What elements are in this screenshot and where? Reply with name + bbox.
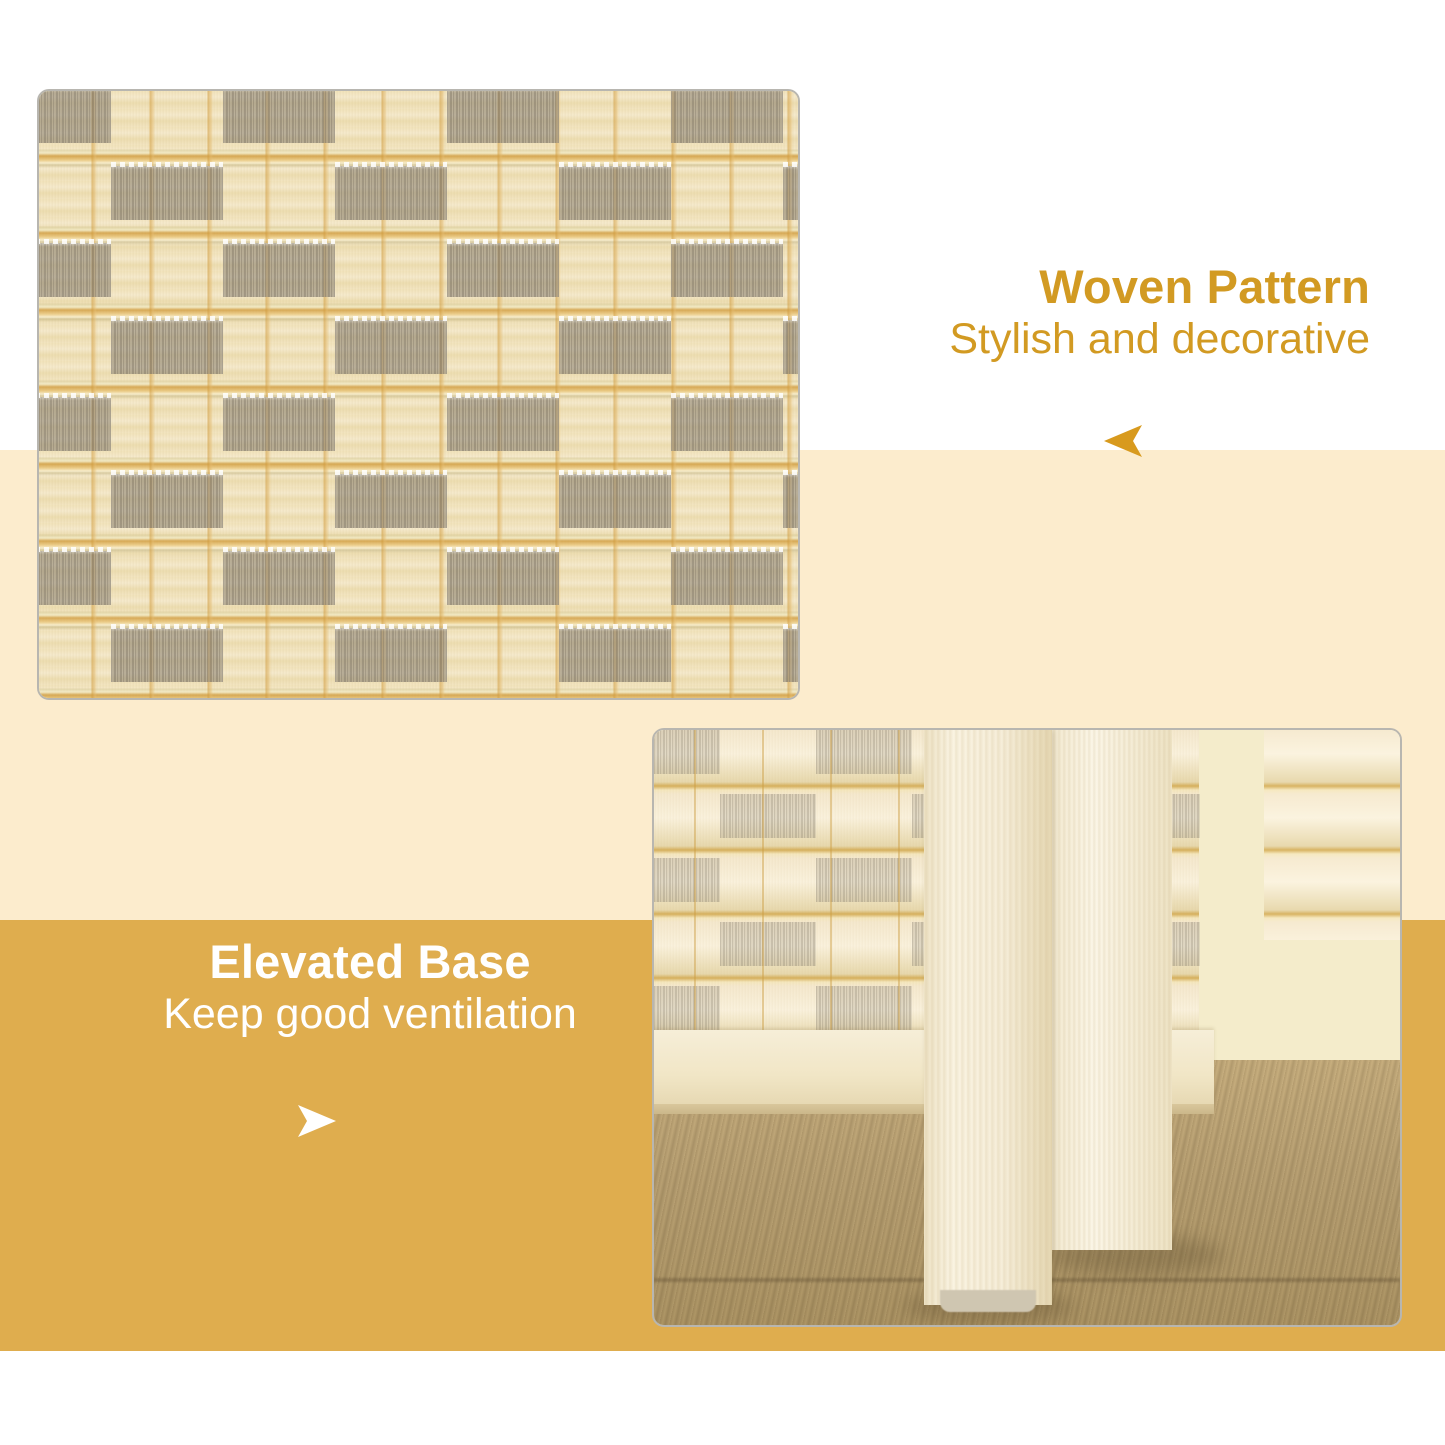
weave-block <box>37 397 111 451</box>
woven-pattern-photo <box>37 89 800 700</box>
weave-block <box>783 474 800 528</box>
weave-block <box>654 858 720 902</box>
weave-block <box>111 628 223 682</box>
weave-block <box>335 320 447 374</box>
woven-pattern-subtitle: Stylish and decorative <box>700 315 1370 364</box>
weave-block <box>447 397 559 451</box>
weave-block <box>335 474 447 528</box>
elevated-base-title: Elevated Base <box>30 937 710 986</box>
weave-block <box>559 320 671 374</box>
infographic-stage: Woven Pattern Stylish and decorative Ele… <box>0 0 1445 1445</box>
weave-vertical-thread <box>898 730 900 1030</box>
wood-grain <box>924 730 1052 1305</box>
weave-block <box>223 551 335 605</box>
weave-block <box>671 397 783 451</box>
elevated-base-text: Elevated Base Keep good ventilation <box>30 937 710 1040</box>
weave-vertical-thread <box>762 730 764 1030</box>
elevated-base-photo <box>652 728 1402 1327</box>
weave-block <box>783 628 800 682</box>
weave-block <box>447 243 559 297</box>
cabinet-woven-panel-right <box>1264 730 1400 940</box>
weave-block <box>335 166 447 220</box>
weave-block <box>111 320 223 374</box>
weave-checker-blocks <box>39 91 798 698</box>
weave-block <box>37 89 111 143</box>
weave-block <box>671 89 783 143</box>
elevated-base-subtitle: Keep good ventilation <box>30 990 710 1039</box>
weave-block <box>783 166 800 220</box>
leg-foot-pad <box>940 1290 1036 1312</box>
weave-vertical-thread <box>830 730 832 1030</box>
cabinet-leg-front <box>924 730 1052 1305</box>
weave-block <box>559 628 671 682</box>
weave-block <box>654 986 720 1030</box>
weave-block <box>559 474 671 528</box>
weave-block <box>223 89 335 143</box>
weave-block <box>335 628 447 682</box>
weave-block <box>720 794 816 838</box>
weave-block <box>223 243 335 297</box>
weave-block <box>111 166 223 220</box>
weave-vertical-thread <box>694 730 696 1030</box>
weave-block <box>671 551 783 605</box>
weave-block <box>559 166 671 220</box>
cabinet-leg-rear <box>1052 730 1172 1250</box>
weave-block <box>447 551 559 605</box>
weave-block <box>654 730 720 774</box>
base-photo-inner <box>654 730 1400 1325</box>
wood-grain <box>1052 730 1172 1250</box>
woven-pattern-title: Woven Pattern <box>700 262 1370 311</box>
weave-block <box>447 89 559 143</box>
arrow-left-icon <box>1102 424 1144 458</box>
weave-block <box>720 922 816 966</box>
woven-pattern-text: Woven Pattern Stylish and decorative <box>700 262 1370 365</box>
weave-block <box>223 397 335 451</box>
weave-block <box>37 551 111 605</box>
arrow-right-icon <box>296 1104 338 1138</box>
weave-block <box>111 474 223 528</box>
background-band-bottom <box>0 1351 1445 1445</box>
weave-block <box>37 243 111 297</box>
